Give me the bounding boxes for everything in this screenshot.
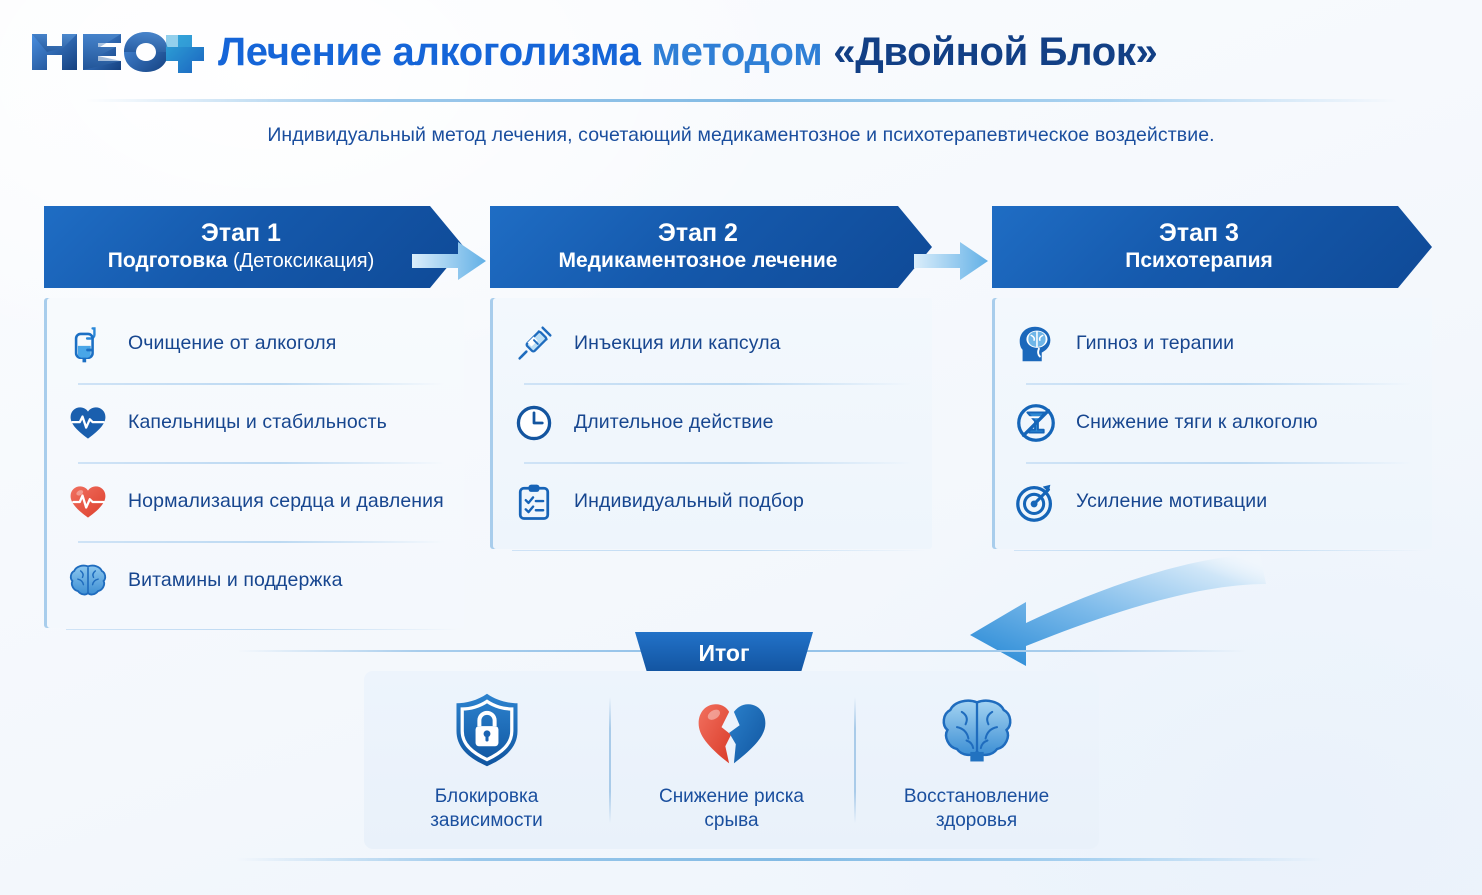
stage-1-name-extra: (Детоксикация) [227, 250, 374, 272]
title-part-3: «Двойной Блок» [833, 30, 1157, 74]
heart-pulse-red-icon [64, 478, 112, 526]
list-item-label: Капельницы и стабильность [128, 411, 387, 434]
target-arrow-icon [1012, 478, 1060, 526]
syringe-icon [510, 320, 558, 368]
list-item-label: Очищение от алкоголя [128, 332, 336, 355]
list-bottom-divider [66, 629, 458, 631]
heart-pulse-blue-icon [64, 399, 112, 447]
stage-2-header[interactable]: Этап 2 Медикаментозное лечение [490, 206, 932, 288]
page-subtitle: Индивидуальный метод лечения, сочетающий… [0, 124, 1482, 147]
list-item-label: Нормализация сердца и давления [128, 490, 444, 513]
no-alcohol-icon [1012, 399, 1060, 447]
list-bottom-divider [512, 550, 926, 552]
list-item-label: Усиление мотивации [1076, 490, 1267, 513]
stage-column-1: Этап 1 Подготовка (Детоксикация) Очищени… [44, 206, 464, 628]
stage-2-items: Инъекция или капсула Длительное действие [490, 298, 932, 549]
neo-plus-logo [28, 28, 208, 74]
stage-3-name-main: Психотерапия [1125, 249, 1272, 272]
result-item[interactable]: Восстановление здоровья [854, 671, 1099, 849]
broken-heart-icon [689, 687, 775, 773]
page-header: Лечение алкоголизма методом «Двойной Бло… [0, 0, 1482, 100]
list-item[interactable]: Усиление мотивации [1008, 462, 1418, 541]
brain-icon [64, 557, 112, 605]
stage-1-items: Очищение от алкоголя Капельницы и стабил… [44, 298, 464, 628]
list-item[interactable]: Гипноз и терапии [1008, 304, 1418, 383]
head-brain-icon [1012, 320, 1060, 368]
page-title: Лечение алкоголизма методом «Двойной Бло… [218, 30, 1158, 75]
list-item-label: Длительное действие [574, 411, 774, 434]
list-item-label: Инъекция или капсула [574, 332, 781, 355]
stage-2-name: Медикаментозное лечение [559, 248, 838, 274]
iv-drip-icon [64, 320, 112, 368]
stage-3-items: Гипноз и терапии Снижение тяги к алкогол… [992, 298, 1432, 549]
list-item[interactable]: Капельницы и стабильность [60, 383, 450, 462]
list-item-label: Гипноз и терапии [1076, 332, 1234, 355]
arrow-stage1-to-stage2 [410, 238, 488, 284]
result-banner-label: Итог [698, 640, 749, 667]
result-item-label: Восстановление здоровья [904, 785, 1049, 833]
list-item[interactable]: Нормализация сердца и давления [60, 462, 450, 541]
result-item[interactable]: Снижение риска срыва [609, 671, 854, 849]
stage-1-header[interactable]: Этап 1 Подготовка (Детоксикация) [44, 206, 464, 288]
list-item[interactable]: Длительное действие [506, 383, 918, 462]
result-card: Блокировка зависимости Снижение риска ср… [364, 671, 1099, 849]
stage-3-header[interactable]: Этап 3 Психотерапия [992, 206, 1432, 288]
footer-divider [236, 858, 1326, 861]
result-banner: Итог [635, 632, 813, 674]
list-item[interactable]: Витамины и поддержка [60, 541, 450, 620]
title-part-1: Лечение алкоголизма [218, 30, 641, 74]
list-item[interactable]: Снижение тяги к алкоголю [1008, 383, 1418, 462]
checklist-clipboard-icon [510, 478, 558, 526]
stage-column-3: Этап 3 Психотерапия Гипноз и терапии [992, 206, 1432, 549]
brain-icon [934, 687, 1020, 773]
list-item-label: Снижение тяги к алкоголю [1076, 411, 1318, 434]
result-item[interactable]: Блокировка зависимости [364, 671, 609, 849]
title-part-2: методом [641, 30, 834, 74]
result-item-label: Блокировка зависимости [430, 785, 543, 833]
list-item-label: Индивидуальный подбор [574, 490, 804, 513]
stage-2-number: Этап 2 [658, 220, 738, 246]
stage-2-name-main: Медикаментозное лечение [559, 249, 838, 272]
result-item-label: Снижение риска срыва [659, 785, 804, 833]
stage-1-number: Этап 1 [201, 220, 281, 246]
list-item-label: Витамины и поддержка [128, 569, 343, 592]
arrow-stage2-to-stage3 [912, 238, 990, 284]
list-item[interactable]: Инъекция или капсула [506, 304, 918, 383]
stage-3-name: Психотерапия [1125, 248, 1272, 274]
stage-column-2: Этап 2 Медикаментозное лечение [490, 206, 932, 549]
clock-icon [510, 399, 558, 447]
stage-1-name: Подготовка (Детоксикация) [108, 248, 375, 274]
list-item[interactable]: Индивидуальный подбор [506, 462, 918, 541]
shield-lock-icon [444, 687, 530, 773]
stage-1-name-main: Подготовка [108, 249, 228, 272]
list-item[interactable]: Очищение от алкоголя [60, 304, 450, 383]
stage-3-number: Этап 3 [1159, 220, 1239, 246]
header-divider [86, 99, 1396, 102]
